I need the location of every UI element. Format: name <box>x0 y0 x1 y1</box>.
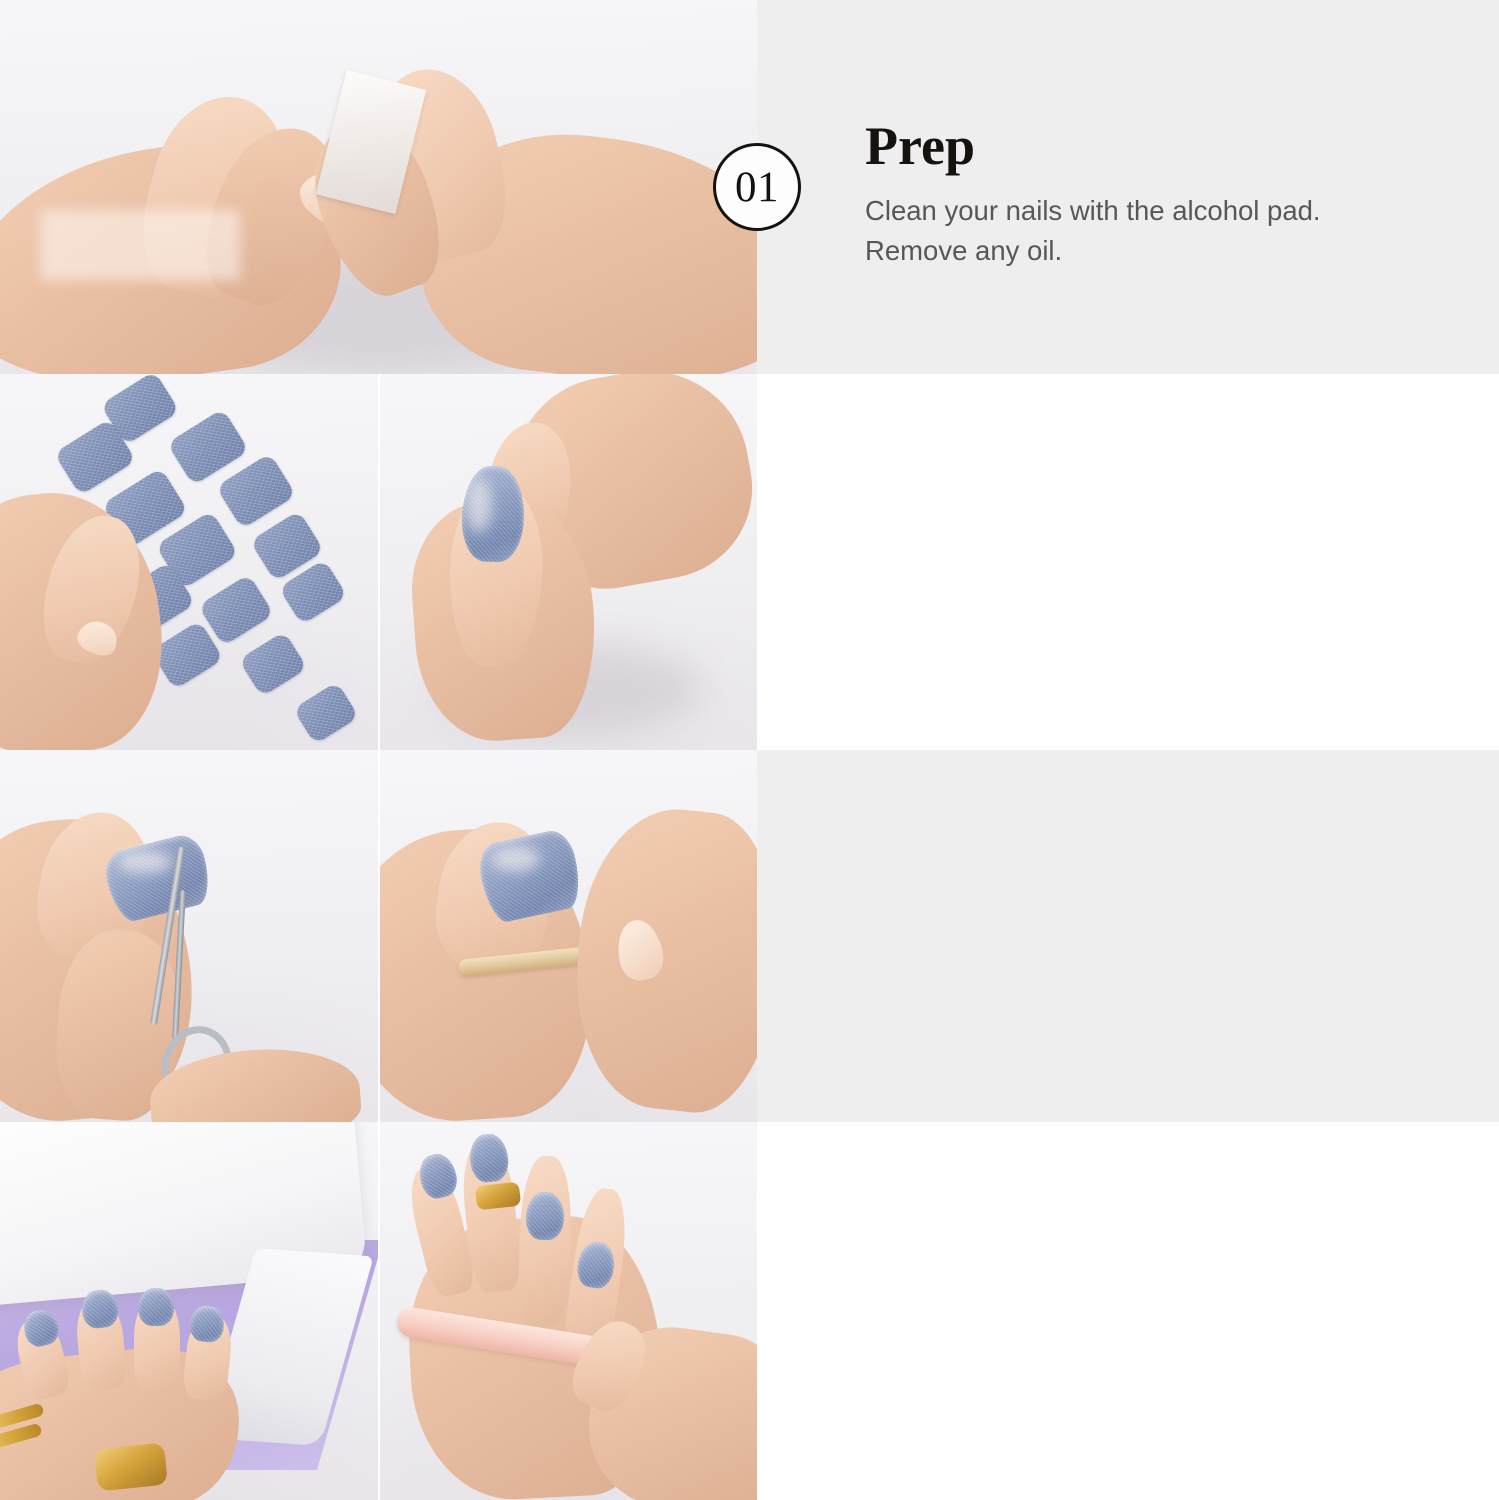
photo-nail-strip-sheet <box>0 374 378 750</box>
photo-trim-with-scissors <box>0 750 378 1122</box>
step-photos-02 <box>0 374 757 750</box>
step-body-line: Remove any oil. <box>865 231 1425 271</box>
step-photos-04 <box>0 1122 757 1500</box>
step-body-line: Clean your nails with the alcohol pad. <box>865 191 1425 231</box>
step-row-01: 01 Prep Clean your nails with the alcoho… <box>0 0 1499 374</box>
gold-ring <box>475 1182 521 1210</box>
step-row-02: 02 Select & Apply Select the strip sligh… <box>0 374 1499 750</box>
photo-apply-strip-to-nail <box>378 374 757 750</box>
instruction-sheet: 01 Prep Clean your nails with the alcoho… <box>0 0 1499 1500</box>
step-photos-01 <box>0 0 757 374</box>
nail-highlight <box>466 478 492 532</box>
photo-highlight <box>40 210 240 280</box>
step-row-03: 03 Trim & Press Firmly press the edges o… <box>0 750 1499 1122</box>
photo-uv-lamp-curing <box>0 1122 378 1500</box>
step-copy-01: Prep Clean your nails with the alcohol p… <box>865 118 1425 271</box>
nail-highlight <box>118 850 172 874</box>
blue-nail <box>525 1191 565 1240</box>
step-badge-01: 01 <box>713 143 801 231</box>
photo-press-with-stick <box>378 750 757 1122</box>
nail-highlight <box>492 846 540 872</box>
photo-filing-edges <box>378 1122 757 1500</box>
blue-nail <box>138 1288 174 1326</box>
photo-hands-alcohol-pad <box>0 0 757 374</box>
step-row-04: 04 Cure & Smooth Cure the strips under U… <box>0 1122 1499 1500</box>
step-photos-03 <box>0 750 757 1122</box>
step-body-01: Clean your nails with the alcohol pad. R… <box>865 191 1425 271</box>
step-title-01: Prep <box>865 118 1425 175</box>
gold-ring-wide <box>94 1442 168 1491</box>
